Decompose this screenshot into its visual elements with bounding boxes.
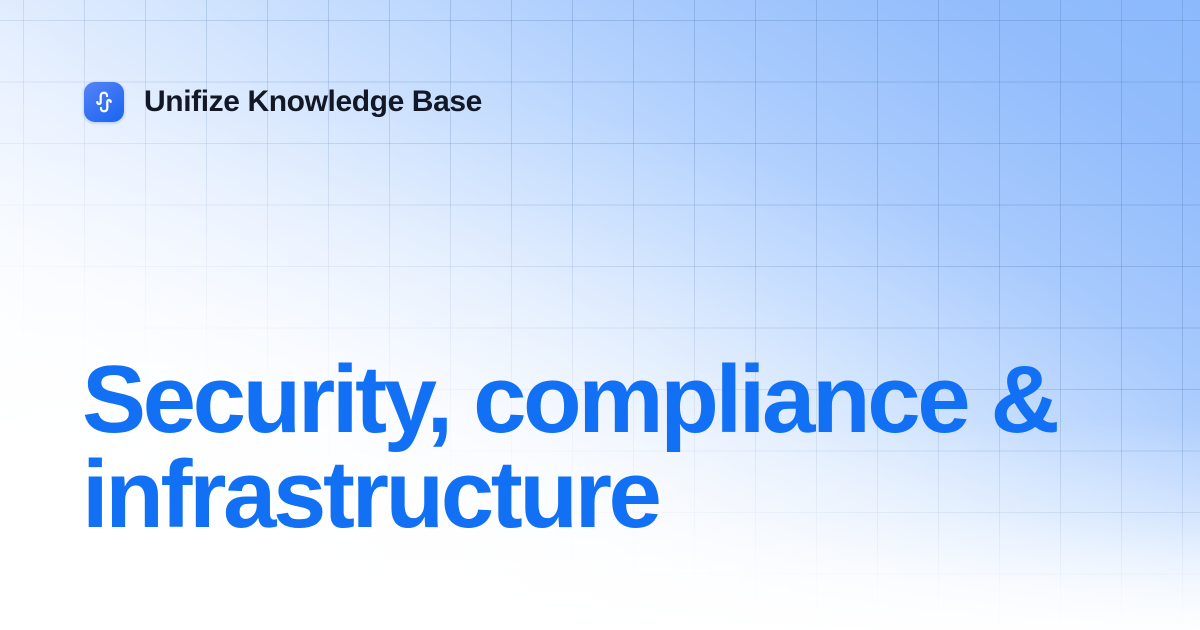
- brand-lockup: Unifize Knowledge Base: [84, 82, 482, 122]
- og-card: Unifize Knowledge Base Security, complia…: [0, 0, 1200, 630]
- page-title: Security, compliance & infrastructure: [82, 352, 1142, 542]
- brand-title: Unifize Knowledge Base: [144, 87, 482, 117]
- unifize-s-mark-icon: [84, 82, 124, 122]
